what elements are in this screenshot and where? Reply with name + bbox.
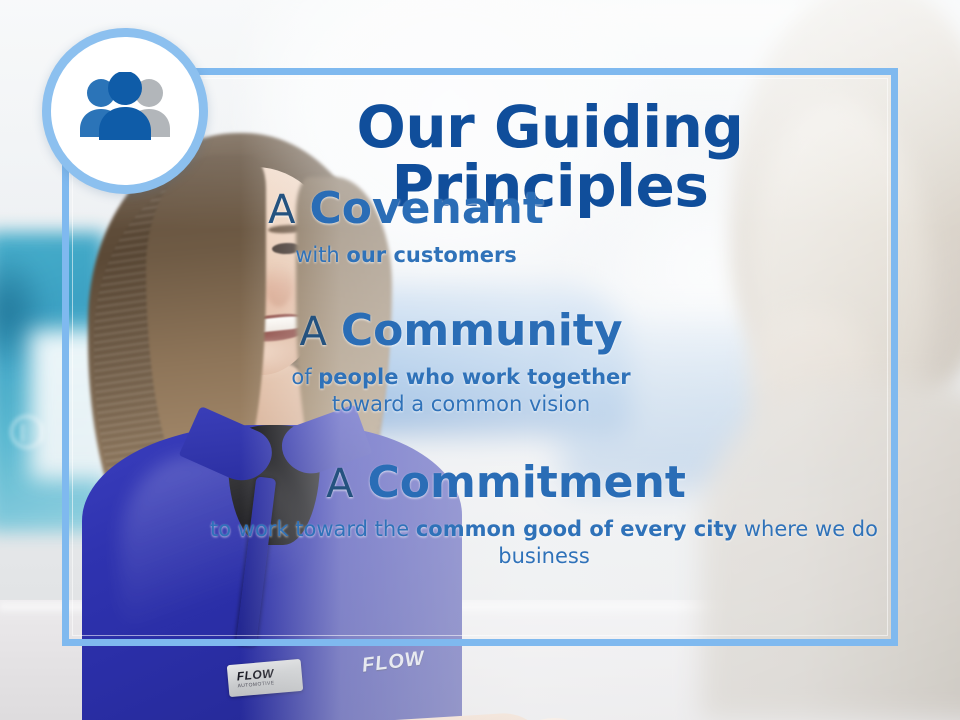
principle-covenant: A Covenant with our customers bbox=[62, 186, 898, 269]
principle-commitment-subtext: to work toward the common good of every … bbox=[62, 516, 898, 571]
principle-community-heading: A Community bbox=[62, 308, 898, 355]
principle-community-sub-lead: of bbox=[291, 365, 318, 389]
principle-covenant-sub-lead: with bbox=[295, 243, 346, 267]
principle-community-sub-tail: toward a common vision bbox=[332, 392, 590, 416]
principle-commitment-sub-bold: common good of every city bbox=[416, 517, 737, 541]
principle-covenant-sub-bold: our customers bbox=[346, 243, 516, 267]
principle-covenant-article: A bbox=[268, 187, 295, 233]
principle-community-word: Community bbox=[341, 305, 623, 356]
principle-commitment: A Commitment to work toward the common g… bbox=[62, 460, 898, 570]
banner-content: Our Guiding Principles A Covenant with o… bbox=[62, 68, 898, 646]
principle-community-sub-bold: people who work together bbox=[318, 365, 630, 389]
principle-covenant-word: Covenant bbox=[309, 183, 543, 234]
principle-community-subtext: of people who work together toward a com… bbox=[62, 364, 898, 419]
principle-covenant-subtext: with our customers bbox=[62, 242, 898, 269]
guiding-principles-banner: FLOW AUTOMOTIVE FLOW bbox=[0, 0, 960, 720]
principle-commitment-word: Commitment bbox=[367, 457, 685, 508]
principle-community-article: A bbox=[299, 309, 326, 355]
principle-commitment-article: A bbox=[326, 461, 353, 507]
principle-community: A Community of people who work together … bbox=[62, 308, 898, 418]
principle-commitment-sub-lead: to work toward the bbox=[210, 517, 416, 541]
principle-covenant-heading: A Covenant bbox=[62, 186, 898, 233]
principle-commitment-heading: A Commitment bbox=[62, 460, 898, 507]
